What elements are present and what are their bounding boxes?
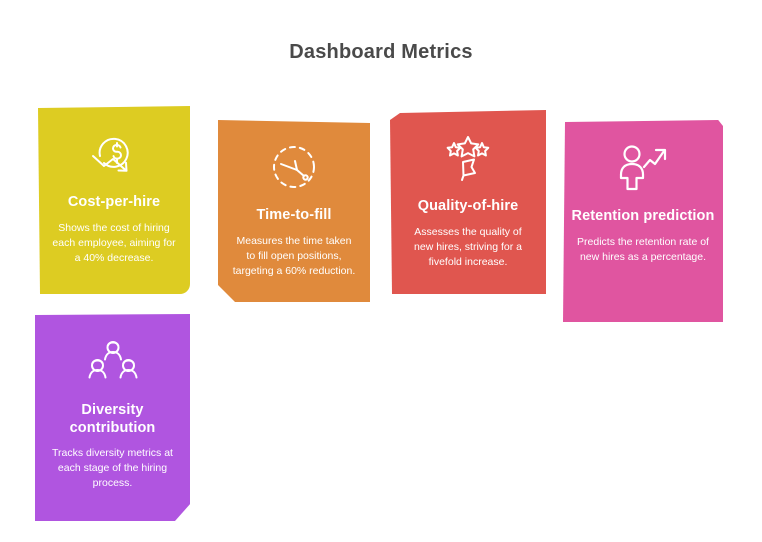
card-description: Shows the cost of hiring each employee, … xyxy=(38,221,190,266)
card-retention-prediction[interactable]: Retention prediction Predicts the retent… xyxy=(563,120,723,322)
three-people-icon xyxy=(85,336,141,388)
stars-flag-icon xyxy=(440,132,496,184)
card-title: Retention prediction xyxy=(564,208,723,226)
card-time-to-fill[interactable]: Time-to-fill Measures the time taken to … xyxy=(218,119,370,302)
card-diversity-contribution[interactable]: Diversity contribution Tracks diversity … xyxy=(35,314,190,521)
card-title: Quality-of-hire xyxy=(410,198,527,216)
card-description: Tracks diversity metrics at each stage o… xyxy=(35,446,190,491)
dollar-circle-down-arrow-icon xyxy=(86,128,142,180)
card-description: Measures the time taken to fill open pos… xyxy=(218,234,370,279)
card-title: Time-to-fill xyxy=(248,207,339,225)
dashed-clock-icon xyxy=(266,141,322,193)
card-description: Assesses the quality of new hires, striv… xyxy=(390,225,546,270)
page-title: Dashboard Metrics xyxy=(0,41,762,64)
card-title: Diversity contribution xyxy=(35,402,190,437)
card-description: Predicts the retention rate of new hires… xyxy=(563,235,723,265)
card-title: Cost-per-hire xyxy=(60,194,168,212)
card-quality-of-hire[interactable]: Quality-of-hire Assesses the quality of … xyxy=(390,110,546,294)
card-cost-per-hire[interactable]: Cost-per-hire Shows the cost of hiring e… xyxy=(38,106,190,294)
person-growth-arrow-icon xyxy=(615,142,671,194)
metrics-board: Dashboard Metrics Cost-per-hire Shows th… xyxy=(0,0,762,542)
